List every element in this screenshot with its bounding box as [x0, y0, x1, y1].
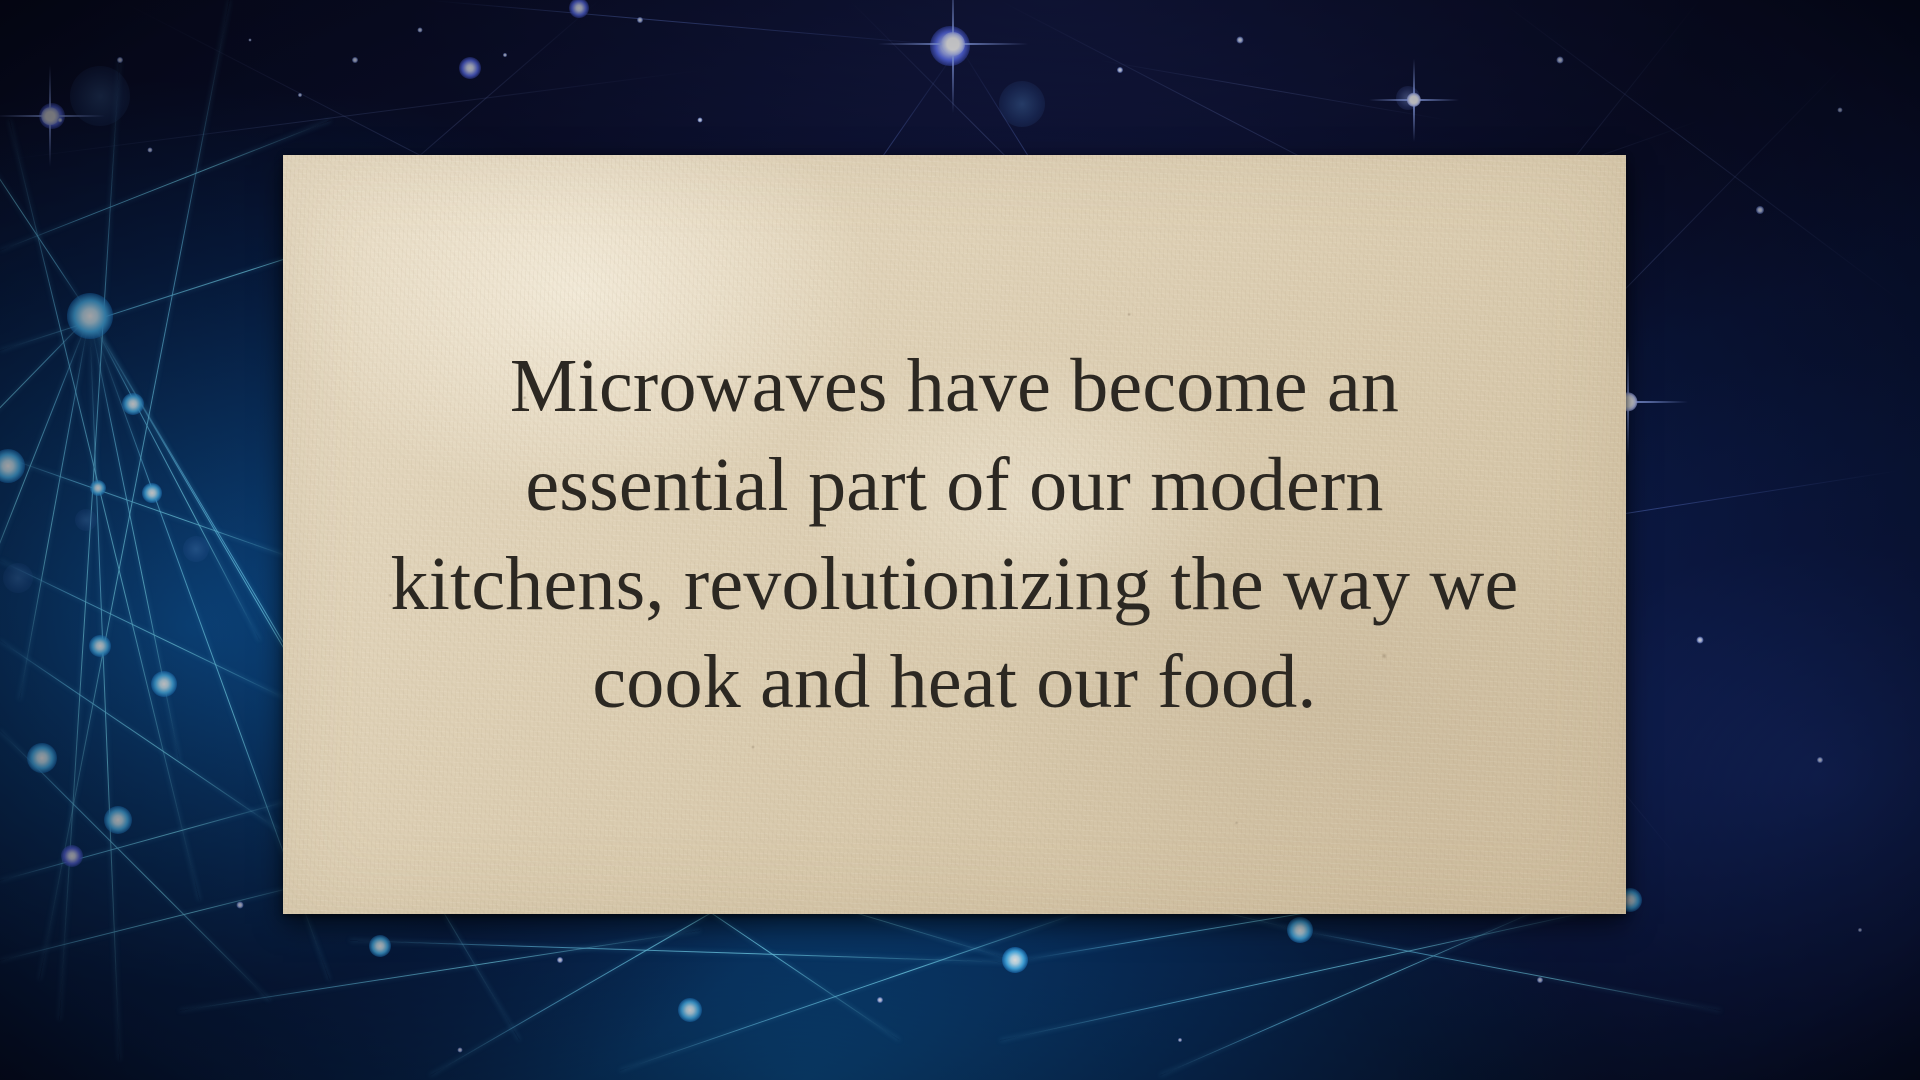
quote-text: Microwaves have become an essential part…: [385, 337, 1525, 732]
quote-card: Microwaves have become an essential part…: [283, 155, 1626, 914]
